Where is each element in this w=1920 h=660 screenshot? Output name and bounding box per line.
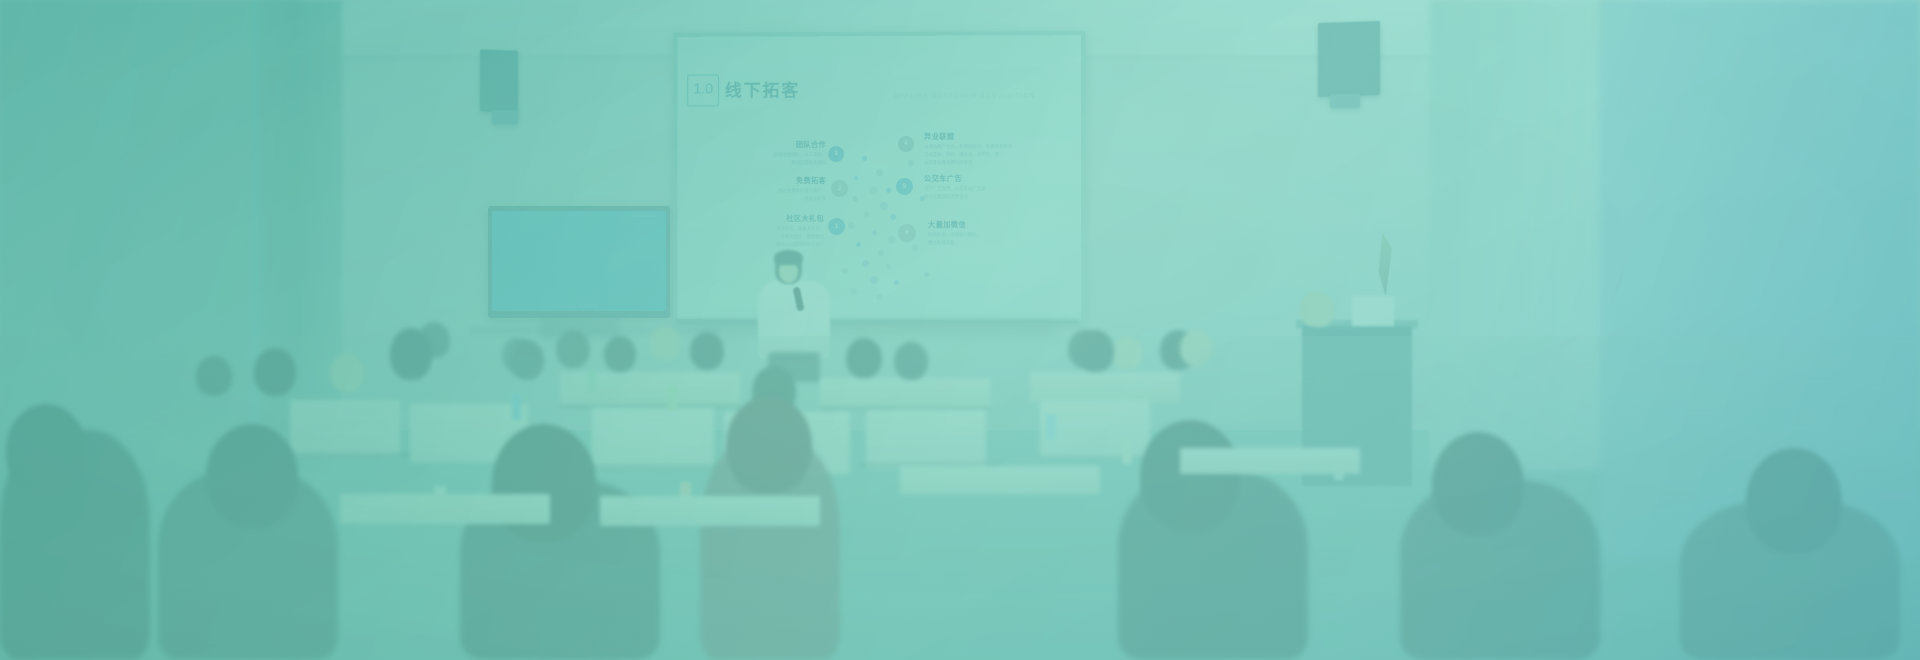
overlay-vignette [0, 0, 1920, 660]
hero-banner: 1.0 线下拓客 OFFLINE CUSTOMER ACQUISITION 团队… [0, 0, 1920, 660]
